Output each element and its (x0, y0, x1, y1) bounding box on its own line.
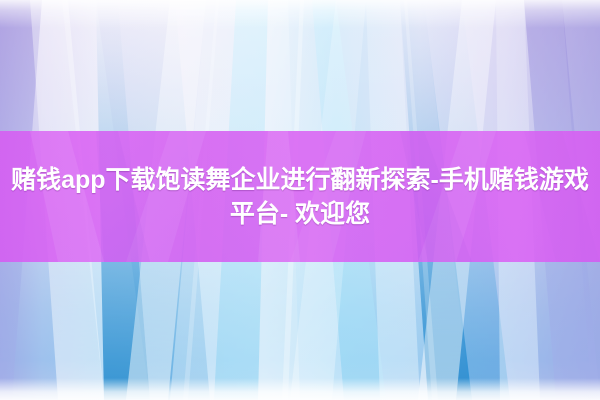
promo-banner: 赌钱app下载饱读舞企业进行翻新探索-手机赌钱游戏平台- 欢迎您 (0, 0, 600, 400)
banner-title: 赌钱app下载饱读舞企业进行翻新探索-手机赌钱游戏平台- 欢迎您 (0, 163, 600, 231)
magenta-title-band: 赌钱app下载饱读舞企业进行翻新探索-手机赌钱游戏平台- 欢迎您 (0, 131, 600, 262)
